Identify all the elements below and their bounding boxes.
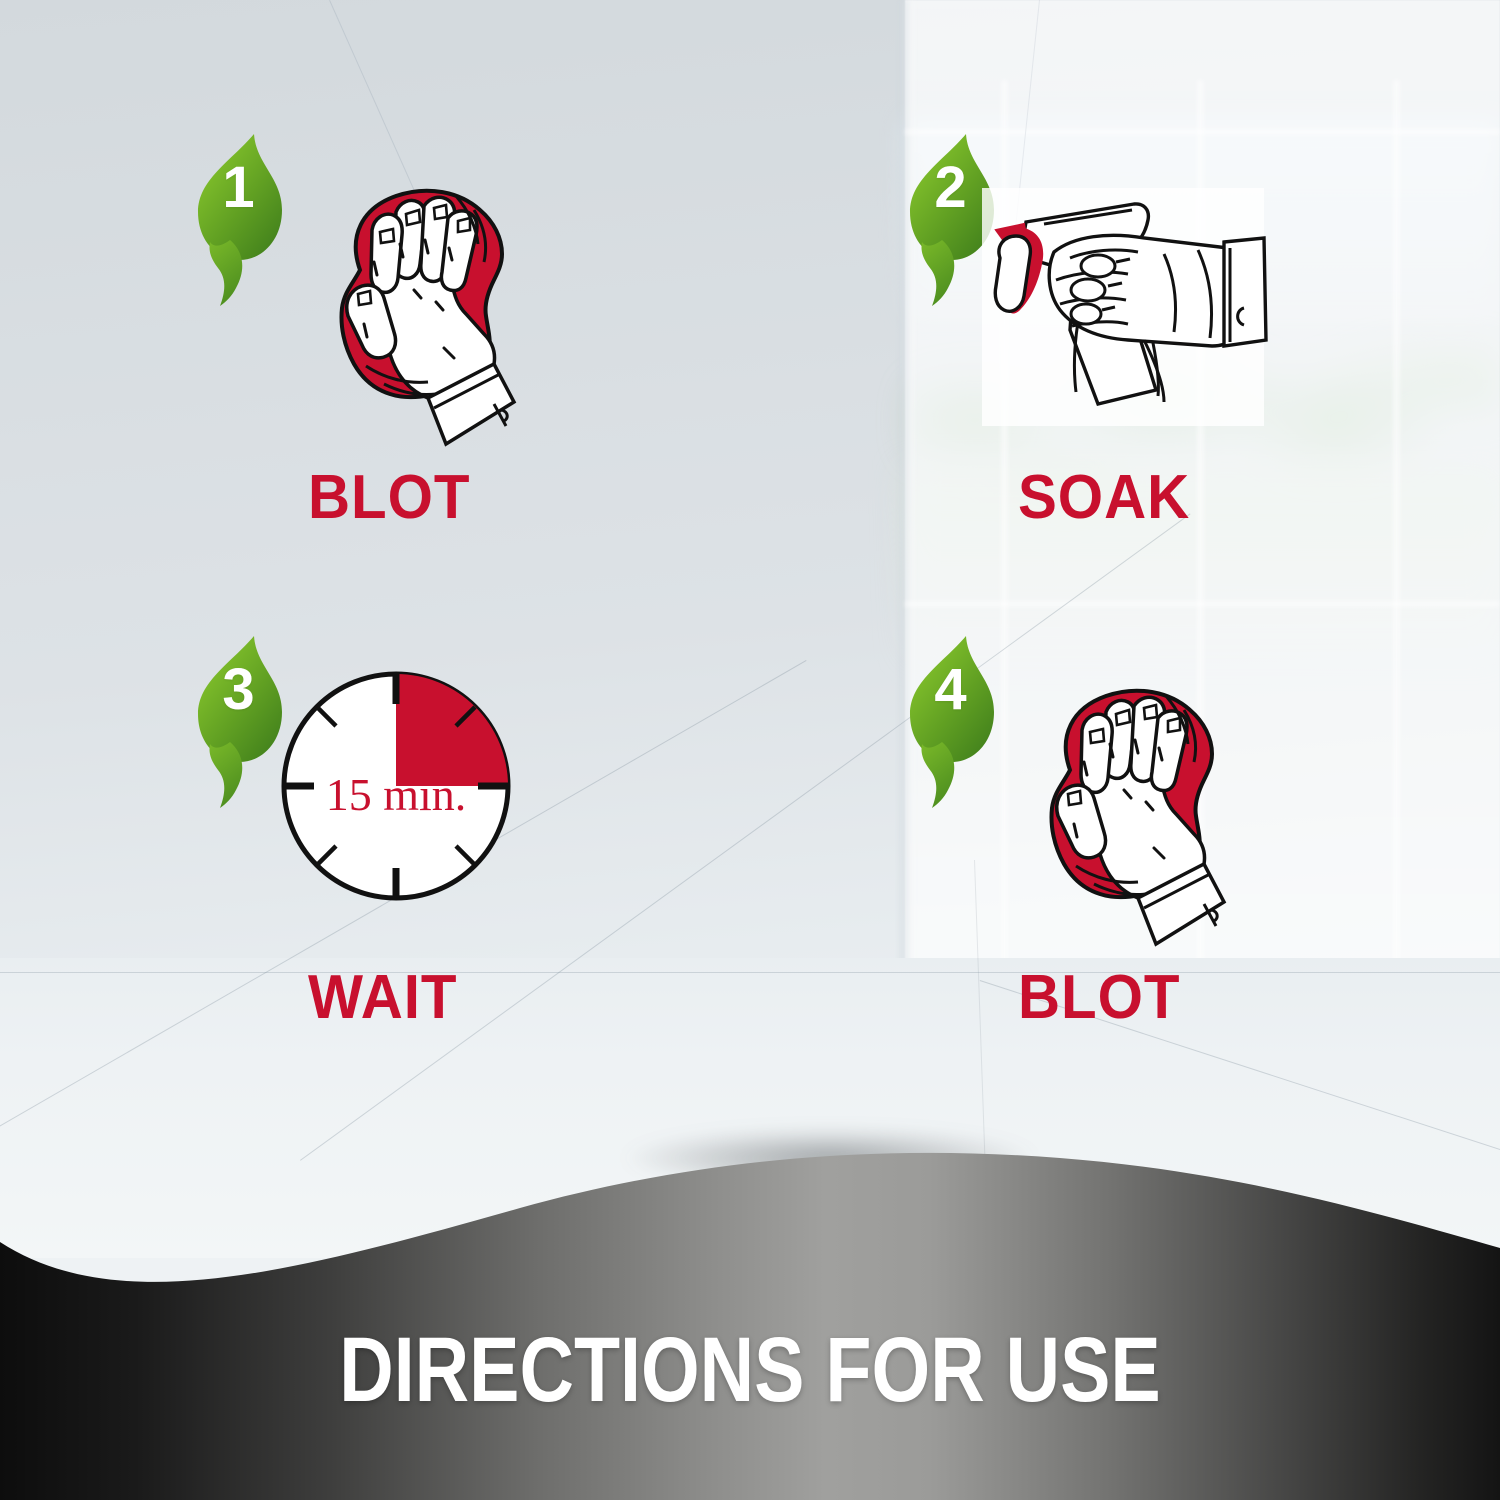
hand-with-red-cloth-icon <box>998 652 1268 977</box>
step-label: WAIT <box>308 962 457 1033</box>
floor-horizon-line <box>0 972 1500 973</box>
window-mullion-vertical <box>1392 80 1401 1090</box>
bottom-banner <box>0 1130 1500 1500</box>
window-mullion-horizontal <box>905 600 1500 608</box>
leaf-badge-icon: 3 <box>186 630 286 810</box>
step-label: BLOT <box>1018 962 1180 1033</box>
hand-with-red-cloth-icon <box>288 152 558 477</box>
leaf-badge-icon: 1 <box>186 128 286 308</box>
step-label: SOAK <box>1018 462 1190 533</box>
step-label: BLOT <box>308 462 470 533</box>
step-number: 4 <box>898 630 998 748</box>
step-number: 1 <box>186 128 286 246</box>
page-title: DIRECTIONS FOR USE <box>135 1318 1365 1423</box>
hand-with-spray-bottle-icon <box>978 180 1268 435</box>
step-number: 3 <box>186 630 286 748</box>
timer-duration-text: 15 min. <box>326 769 467 820</box>
product-directions-graphic: 1 <box>0 0 1500 1500</box>
leaf-badge-icon: 4 <box>898 630 998 810</box>
timer-clock-icon: 15 min. <box>278 668 514 909</box>
